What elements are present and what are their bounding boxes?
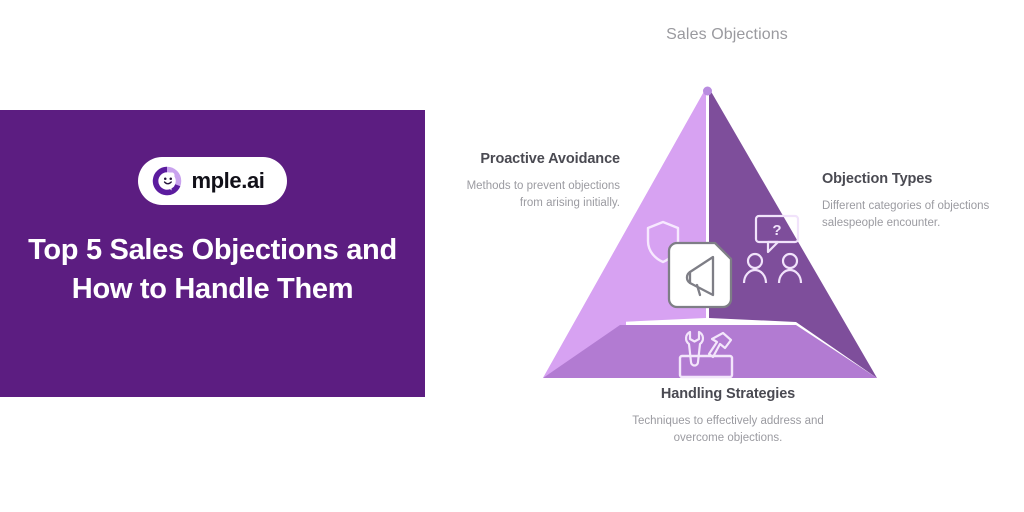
sales-objections-diagram: Sales Objections ? — [430, 0, 1024, 512]
promo-headline: Top 5 Sales Objections and How to Handle… — [0, 231, 425, 308]
logo-pill[interactable]: mple.ai — [138, 157, 286, 205]
mple-ai-logo-icon — [152, 166, 182, 196]
node-description-proactive-avoidance: Methods to prevent objections from arisi… — [450, 178, 620, 211]
logo-wordmark: mple.ai — [191, 170, 264, 192]
node-label-objection-types[interactable]: Objection Types Different categories of … — [822, 170, 997, 231]
node-description-handling-strategies: Techniques to effectively address and ov… — [608, 413, 848, 446]
node-title-objection-types: Objection Types — [822, 170, 997, 189]
megaphone-icon — [669, 243, 731, 307]
svg-text:?: ? — [772, 222, 781, 239]
promo-panel: mple.ai Top 5 Sales Objections and How t… — [0, 110, 425, 397]
node-title-proactive-avoidance: Proactive Avoidance — [450, 150, 620, 169]
node-description-objection-types: Different categories of objections sales… — [822, 198, 997, 231]
node-label-handling-strategies[interactable]: Handling Strategies Techniques to effect… — [608, 385, 848, 446]
node-title-handling-strategies: Handling Strategies — [608, 385, 848, 404]
node-label-proactive-avoidance[interactable]: Proactive Avoidance Methods to prevent o… — [450, 150, 620, 211]
